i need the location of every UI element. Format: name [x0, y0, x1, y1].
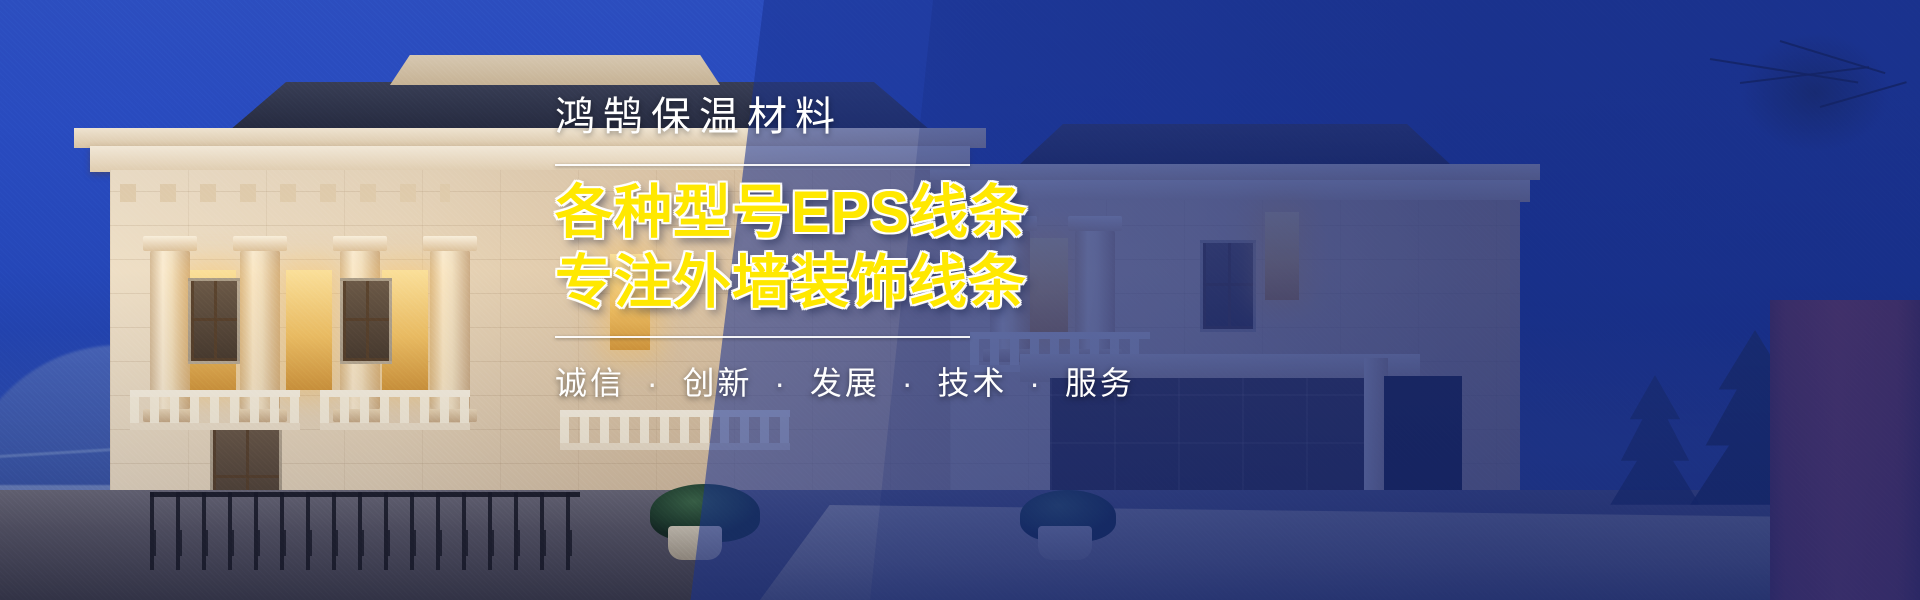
banner-text-block: 鸿鹄保温材料 各种型号EPS线条 专注外墙装饰线条 诚信 · 创新 · 发展 ·…: [555, 92, 1315, 404]
headline-line-2: 专注外墙装饰线条: [555, 252, 1315, 315]
brand-name: 鸿鹄保温材料: [555, 92, 1315, 142]
tagline-item-5: 服务: [1065, 365, 1135, 401]
headline-line-1: 各种型号EPS线条: [555, 182, 1315, 245]
tagline-item-2: 创新: [682, 365, 752, 401]
tagline-separator: ·: [902, 365, 916, 401]
tagline-separator: ·: [1029, 365, 1043, 401]
divider-bottom: [555, 336, 970, 338]
tagline-item-3: 发展: [810, 365, 880, 401]
tagline: 诚信 · 创新 · 发展 · 技术 · 服务: [555, 358, 1315, 404]
headline: 各种型号EPS线条 专注外墙装饰线条: [555, 182, 1315, 314]
tagline-item-1: 诚信: [555, 365, 625, 401]
tagline-separator: ·: [774, 365, 788, 401]
tagline-separator: ·: [647, 365, 661, 401]
hero-banner: 鸿鹄保温材料 各种型号EPS线条 专注外墙装饰线条 诚信 · 创新 · 发展 ·…: [0, 0, 1920, 600]
tagline-item-4: 技术: [937, 365, 1007, 401]
divider-top: [555, 164, 970, 166]
